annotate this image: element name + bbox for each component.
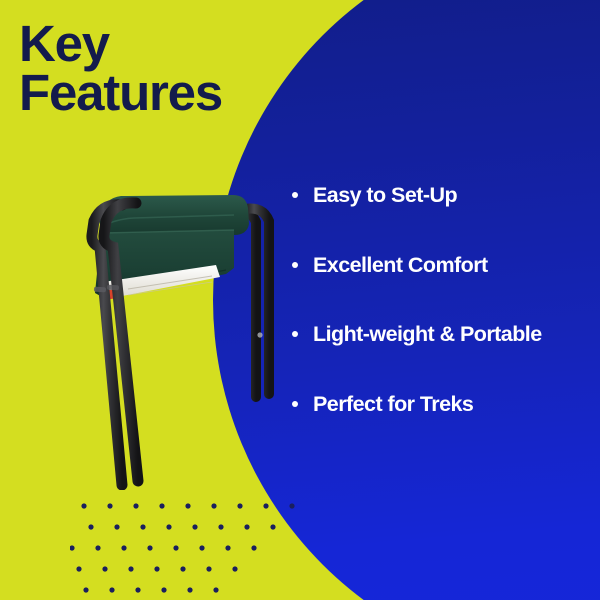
feature-label: Excellent Comfort <box>313 253 488 277</box>
grid-dot <box>107 503 112 508</box>
feature-list: Easy to Set-Up Excellent Comfort Light-w… <box>292 180 592 458</box>
feature-label: Easy to Set-Up <box>313 183 457 207</box>
product-image-folding-stool <box>62 185 292 490</box>
list-item: Excellent Comfort <box>292 250 592 320</box>
grid-dot <box>133 503 138 508</box>
grid-dot <box>244 524 249 529</box>
grid-dot <box>114 524 119 529</box>
grid-dot <box>263 503 268 508</box>
grid-dot <box>128 566 133 571</box>
feature-label: Light-weight & Portable <box>313 322 542 346</box>
list-item: Easy to Set-Up <box>292 180 592 250</box>
grid-dot <box>166 524 171 529</box>
key-features-poster: Key Features <box>0 0 600 600</box>
grid-dot <box>83 587 88 592</box>
grid-dot <box>121 545 126 550</box>
grid-dot <box>225 545 230 550</box>
grid-dot <box>161 587 166 592</box>
grid-dot <box>218 524 223 529</box>
grid-dot <box>173 545 178 550</box>
grid-dot <box>95 545 100 550</box>
bullet-dot-icon <box>292 331 298 337</box>
grid-dot <box>147 545 152 550</box>
grid-dot <box>211 503 216 508</box>
bullet-dot-icon <box>292 262 298 268</box>
grid-dot <box>187 587 192 592</box>
bullet-dot-icon <box>292 192 298 198</box>
grid-dot <box>185 503 190 508</box>
grid-dot <box>192 524 197 529</box>
grid-dot <box>270 524 275 529</box>
grid-dot <box>76 566 81 571</box>
grid-dot <box>102 566 107 571</box>
feature-label: Perfect for Treks <box>313 392 473 416</box>
grid-dot <box>88 524 93 529</box>
grid-dot <box>81 503 86 508</box>
grid-dot <box>289 503 294 508</box>
grid-dot <box>199 545 204 550</box>
list-item: Light-weight & Portable <box>292 319 592 389</box>
bullet-dot-icon <box>292 401 298 407</box>
grid-dot <box>206 566 211 571</box>
grid-dot <box>159 503 164 508</box>
grid-dot <box>232 566 237 571</box>
grid-dot <box>237 503 242 508</box>
dot-grid-pattern <box>70 492 330 600</box>
grid-dot <box>109 587 114 592</box>
grid-dot <box>140 524 145 529</box>
grid-dot <box>180 566 185 571</box>
grid-dot <box>154 566 159 571</box>
grid-dot <box>70 545 75 550</box>
page-title: Key Features <box>19 19 222 117</box>
grid-dot <box>251 545 256 550</box>
grid-dot <box>213 587 218 592</box>
list-item: Perfect for Treks <box>292 389 592 459</box>
stool-rear-leg <box>234 209 269 398</box>
grid-dot <box>135 587 140 592</box>
